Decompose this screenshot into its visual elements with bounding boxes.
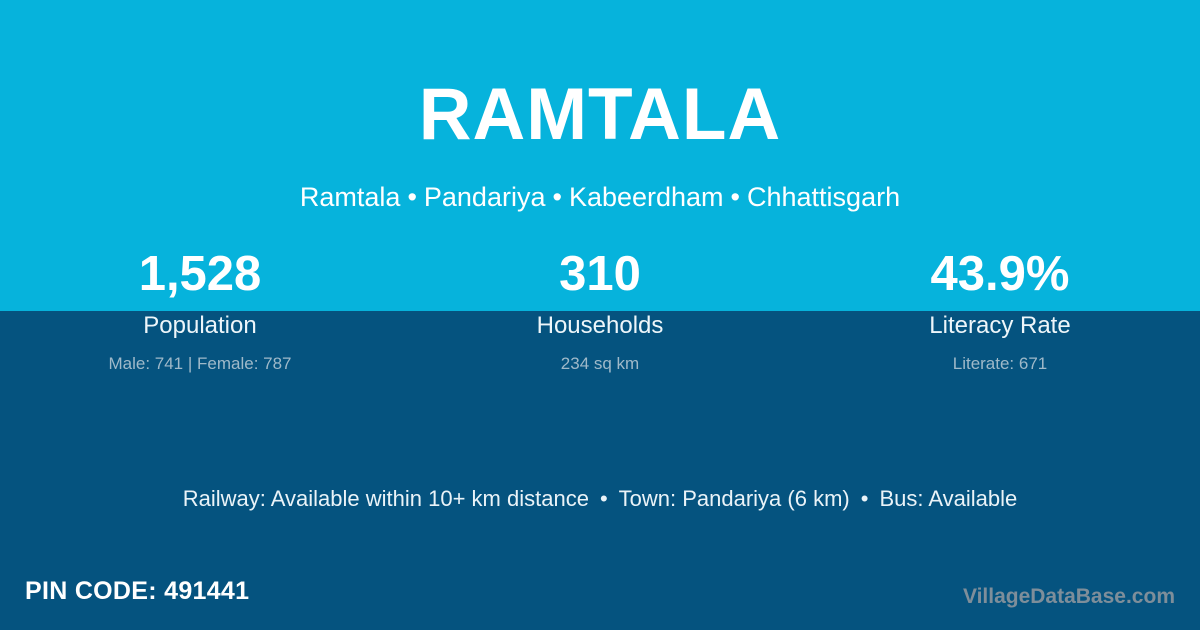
infra-separator-icon: • [850,486,880,511]
breadcrumb-separator-icon: • [400,182,423,212]
stat-value: 1,528 [0,248,400,306]
breadcrumb-district: Kabeerdham [569,182,724,212]
stat-label: Households [400,312,800,341]
stat-sublabel: Literate: 671 [800,354,1200,374]
stat-households: 310 Households 234 sq km [400,248,800,374]
site-brand: VillageDataBase.com [963,583,1175,610]
infra-bus: Bus: Available [879,486,1017,511]
stat-population: 1,528 Population Male: 741 | Female: 787 [0,248,400,374]
breadcrumb-separator-icon: • [545,182,568,212]
stat-sublabel: Male: 741 | Female: 787 [0,354,400,374]
stat-sublabel: 234 sq km [400,354,800,374]
stats-row: 1,528 Population Male: 741 | Female: 787… [0,248,1200,374]
breadcrumb-block: Pandariya [424,182,546,212]
infra-separator-icon: • [589,486,619,511]
pin-code: PIN CODE: 491441 [25,575,249,608]
stat-label: Population [0,312,400,341]
stat-value: 310 [400,248,800,306]
breadcrumb-separator-icon: • [724,182,747,212]
stat-literacy-rate: 43.9% Literacy Rate Literate: 671 [800,248,1200,374]
infra-town: Town: Pandariya (6 km) [619,486,850,511]
breadcrumb-state: Chhattisgarh [747,182,900,212]
breadcrumb: Ramtala•Pandariya•Kabeerdham•Chhattisgar… [0,182,1200,213]
page-title: RAMTALA [0,78,1200,151]
village-info-card: RAMTALA Ramtala•Pandariya•Kabeerdham•Chh… [0,0,1200,630]
infrastructure-line: Railway: Available within 10+ km distanc… [0,485,1200,514]
stat-value: 43.9% [800,248,1200,306]
breadcrumb-village: Ramtala [300,182,401,212]
infra-railway: Railway: Available within 10+ km distanc… [183,486,589,511]
stat-label: Literacy Rate [800,312,1200,341]
